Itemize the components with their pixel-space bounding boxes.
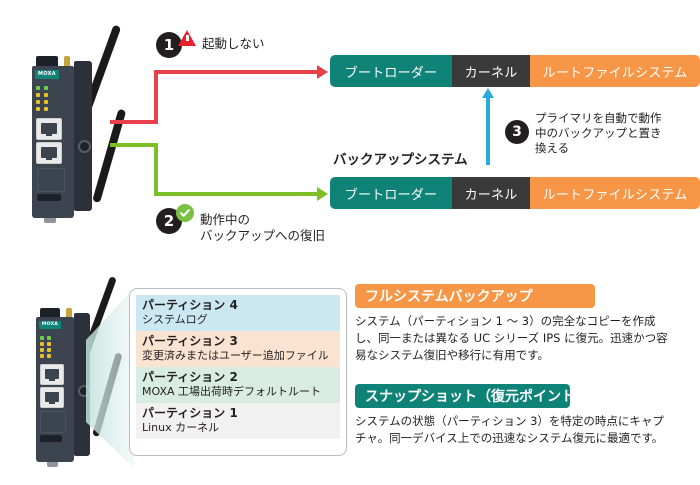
step-3-number: 3	[512, 125, 522, 139]
primary-system-bar: ブートローダー カーネル ルートファイルシステム	[330, 55, 700, 87]
step-2-number: 2	[164, 214, 174, 229]
feature-header-snapshot: スナップショット（復元ポイント）	[355, 384, 570, 408]
primary-segment-kernel: カーネル	[452, 55, 530, 87]
feature-header-full-backup: フルシステムバックアップ	[355, 284, 595, 308]
device-io-slot	[40, 435, 62, 442]
partition-row-3: パーティション 3 変更済みまたはユーザー追加ファイル	[136, 331, 340, 367]
green-path-segment-upper	[110, 143, 158, 147]
partition-4-title: パーティション 4	[142, 298, 334, 313]
feature-body-full-backup: システム（パーティション 1 〜 3）の完全なコピーを作成し、同一または異なる …	[355, 313, 675, 364]
primary-segment-bootloader: ブートローダー	[330, 55, 452, 87]
step-2-label: 動作中の バックアップへの復旧	[200, 212, 325, 244]
blue-replace-arrow-shaft	[486, 97, 490, 165]
step-3-badge: 3	[505, 120, 529, 144]
device-brand-text: MOXA	[38, 72, 56, 77]
ethernet-port-2-icon	[36, 142, 62, 164]
red-path-segment-upper	[154, 70, 320, 74]
device-foot	[47, 462, 58, 467]
device-side-face	[74, 61, 92, 211]
backup-segment-rootfs: ルートファイルシステム	[530, 177, 700, 209]
partition-4-subtitle: システムログ	[142, 313, 334, 327]
partition-1-title: パーティション 1	[142, 406, 334, 421]
device-top-connector	[40, 308, 60, 317]
red-path-segment-vertical	[154, 70, 158, 124]
callout-wedge	[86, 288, 134, 468]
green-path-segment-lower	[154, 192, 320, 196]
ethernet-port-2-icon	[40, 387, 64, 408]
green-path-arrowhead	[317, 187, 328, 201]
red-path-arrowhead	[317, 65, 328, 79]
partition-row-1: パーティション 1 Linux カーネル	[136, 403, 340, 439]
backup-system-title: バックアップシステム	[333, 148, 468, 168]
partition-1-subtitle: Linux カーネル	[142, 421, 334, 435]
step-3-label: プライマリを自動で動作中のバックアップと置き換える	[535, 111, 670, 156]
partition-card: パーティション 4 システムログ パーティション 3 変更済みまたはユーザー追加…	[129, 288, 347, 456]
step-1-label: 起動しない	[202, 36, 265, 52]
step-1-number: 1	[164, 38, 174, 53]
partition-2-subtitle: MOXA 工場出荷時デフォルトルート	[142, 385, 334, 399]
blue-replace-arrowhead	[482, 88, 494, 98]
feature-body-snapshot: システムの状態（パーティション 3）を特定の時点にキャプチャ。同一デバイス上での…	[355, 413, 675, 447]
check-circle-icon	[176, 204, 194, 222]
device-brand-logo: MOXA	[35, 70, 59, 79]
grounding-screw-icon	[78, 140, 91, 153]
ethernet-port-1-icon	[36, 118, 62, 140]
device-brand-text: MOXA	[42, 323, 58, 328]
red-path-segment-lower	[110, 120, 158, 124]
diagram-canvas: MOXA 1 起動しない 2	[0, 0, 700, 485]
device-io-slot	[37, 194, 61, 201]
backup-segment-bootloader: ブートローダー	[330, 177, 452, 209]
backup-segment-kernel: カーネル	[452, 177, 530, 209]
partition-2-title: パーティション 2	[142, 370, 334, 385]
device-foot	[44, 218, 56, 223]
backup-system-bar: ブートローダー カーネル ルートファイルシステム	[330, 177, 700, 209]
warning-triangle-icon	[178, 30, 196, 46]
device-brand-logo: MOXA	[39, 321, 61, 329]
device-top-connector	[36, 56, 58, 66]
partition-3-subtitle: 変更済みまたはユーザー追加ファイル	[142, 349, 334, 363]
primary-segment-rootfs: ルートファイルシステム	[530, 55, 700, 87]
green-path-segment-vertical	[154, 143, 158, 196]
partition-3-title: パーティション 3	[142, 334, 334, 349]
ethernet-port-1-icon	[40, 364, 64, 385]
device-expansion-panel	[40, 411, 66, 433]
partition-row-4: パーティション 4 システムログ	[136, 295, 340, 331]
partition-row-2: パーティション 2 MOXA 工場出荷時デフォルトルート	[136, 367, 340, 403]
device-expansion-panel	[37, 168, 65, 192]
